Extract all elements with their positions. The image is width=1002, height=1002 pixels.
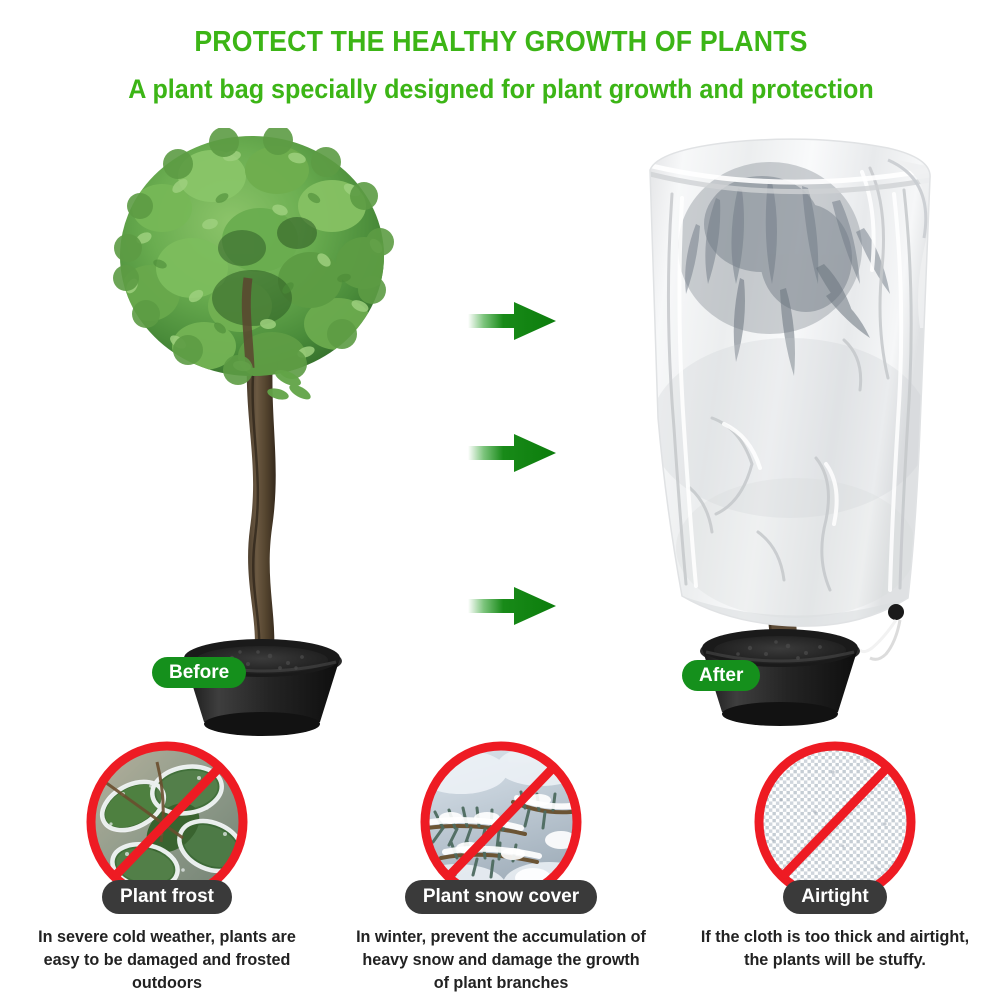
- frosted-leaves-photo: [87, 742, 247, 902]
- after-badge: After: [682, 660, 760, 691]
- snow-covered-conifer-branches-photo: [421, 742, 581, 902]
- arrow-icon-2: [466, 430, 558, 476]
- page-title: PROTECT THE HEALTHY GROWTH OF PLANTS: [40, 26, 962, 59]
- after-covered-plant-illustration: [620, 128, 960, 738]
- arrow-icon-1: [466, 298, 558, 344]
- feature-caption-plant-snow-cover: In winter, prevent the accumulation of h…: [342, 926, 659, 995]
- before-badge: Before: [152, 657, 246, 688]
- feature-block-plant-snow-cover: Plant snow cover In winter, prevent the …: [334, 742, 668, 995]
- page-subtitle: A plant bag specially designed for plant…: [35, 74, 967, 105]
- woven-fabric-closeup-photo: [755, 742, 915, 902]
- feature-badge-airtight: Airtight: [783, 880, 887, 914]
- product-infographic: PROTECT THE HEALTHY GROWTH OF PLANTS A p…: [0, 0, 1002, 1002]
- feature-block-airtight: Airtight If the cloth is too thick and a…: [668, 742, 1002, 972]
- feature-badge-plant-frost: Plant frost: [102, 880, 232, 914]
- before-tree-illustration: [92, 128, 432, 738]
- feature-caption-plant-frost: In severe cold weather, plants are easy …: [8, 926, 325, 995]
- feature-block-plant-frost: Plant frost In severe cold weather, plan…: [0, 742, 334, 995]
- arrow-icon-3: [466, 583, 558, 629]
- feature-caption-airtight: If the cloth is too thick and airtight, …: [676, 926, 993, 972]
- feature-badge-plant-snow-cover: Plant snow cover: [405, 880, 597, 914]
